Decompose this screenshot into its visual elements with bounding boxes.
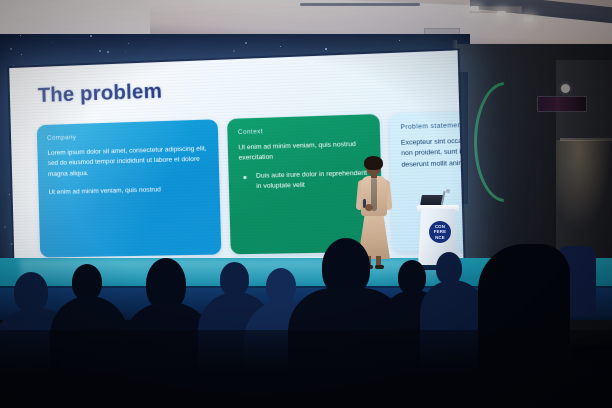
audience-member [72,264,102,300]
star [20,35,21,36]
star [10,48,12,50]
conference-photo: The problem Company Lorem ipsum dolor si… [0,0,612,408]
wall-uplight-glow [556,140,612,230]
ceiling-spotlight [470,6,479,11]
card-bullet-item: Duis aute irure dolor in reprehenderit i… [239,168,371,193]
star [125,51,126,52]
star [90,35,92,37]
star [233,50,235,52]
star [280,46,281,47]
star [13,65,14,66]
card-paragraph: Ut enim ad minim veniam, quis nostrud ex… [238,139,370,164]
microphone-icon [446,189,450,193]
star [52,42,53,43]
ceiling-light-rail [300,3,420,6]
audience-member [398,260,426,294]
speaker-hair [364,156,383,170]
star [325,48,327,50]
speaker-hand [365,204,373,211]
audience-member [266,268,296,304]
star [107,51,109,53]
star [99,50,101,52]
star [399,40,400,41]
ceiling-spotlight [497,11,506,16]
audience-member [220,262,249,296]
card-label: Context [238,125,369,136]
card-label: Company [47,130,208,142]
star [4,226,6,228]
star [9,194,10,195]
wall-display-panel [537,96,587,112]
audience-member [14,272,48,312]
star [128,43,129,44]
star [21,54,22,55]
ceiling-spotlight [524,16,533,21]
star [245,42,247,44]
foreground-shadow [0,330,612,408]
card-paragraph: Excepteur sint occaecat cupidatat non pr… [401,135,464,171]
card-paragraph: Ut enim ad minim veniam, quis nostrud [48,184,209,198]
card-bullet-list: Duis aute irure dolor in reprehenderit i… [239,168,371,193]
card-label: Problem statement [400,120,463,131]
slide-title: The problem [38,80,163,108]
wall-speaker-icon [561,84,570,93]
card-paragraph: Lorem ipsum dolor sit amet, consectetur … [47,144,208,180]
